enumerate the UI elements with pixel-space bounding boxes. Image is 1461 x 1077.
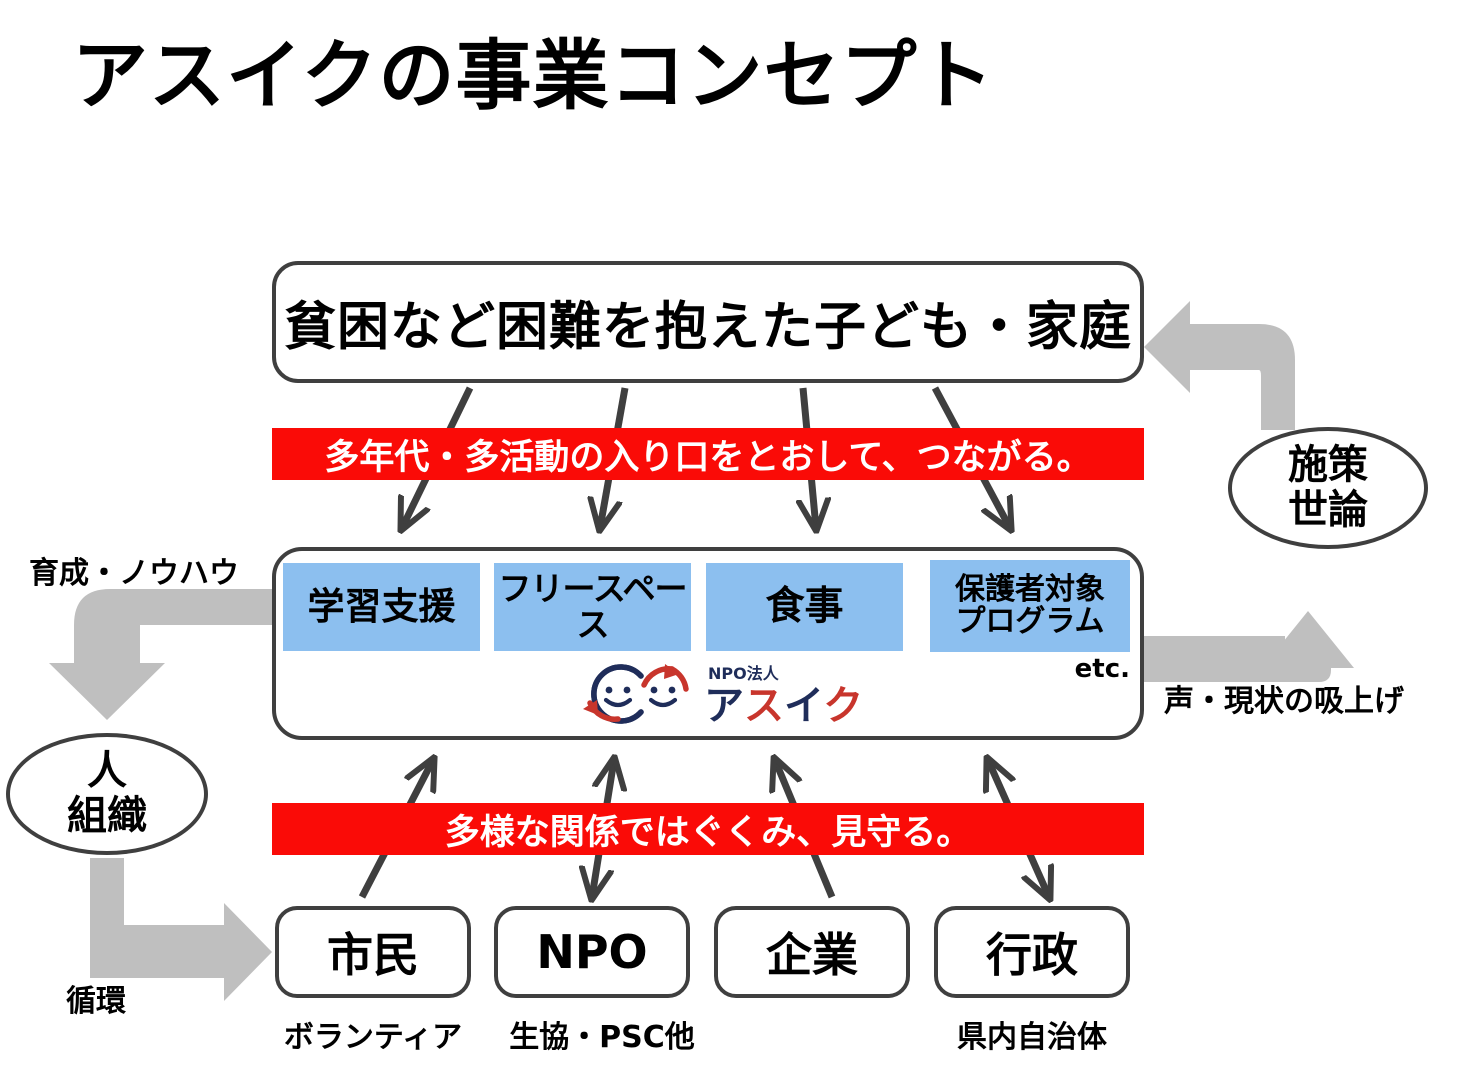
slide-canvas: アスイクの事業コンセプト 貧困など困難を抱えた子ども・家庭 (0, 0, 1461, 1077)
logo-name: アスイク (704, 683, 863, 727)
actor-box-kigyo[interactable]: 企業 (714, 906, 910, 998)
ellipse-left-line2: 組織 (67, 794, 147, 839)
etc-label: etc. (930, 654, 1130, 684)
actor-box-gyosei[interactable]: 行政 (934, 906, 1130, 998)
asuiku-logo: NPO法人 アスイク (578, 661, 898, 727)
label-ikusei-knowhow: 育成・ノウハウ (29, 548, 239, 592)
service-chip-hogosha-program[interactable]: 保護者対象プログラム (930, 560, 1130, 652)
ellipse-policy-opinion: 施策 世論 (1228, 427, 1428, 549)
actor-box-shimin[interactable]: 市民 (275, 906, 471, 998)
service-chip-gakushu-shien[interactable]: 学習支援 (283, 563, 480, 651)
actor-caption-shimin: ボランティア (253, 1012, 493, 1056)
target-population-box: 貧困など困難を抱えた子ども・家庭 (272, 261, 1144, 383)
actor-caption-gyosei: 県内自治体 (912, 1012, 1152, 1056)
logo-kicker: NPO法人 (708, 664, 780, 683)
arrow-seisaku-left (1144, 301, 1295, 430)
ellipse-people-organization: 人 組織 (6, 733, 208, 855)
logo-smiley-loop (583, 664, 686, 721)
arrow-ikusei-down (49, 589, 272, 720)
service-chip-shokuji[interactable]: 食事 (706, 563, 903, 651)
label-koe-genjo: 声・現状の吸上げ (1164, 676, 1404, 720)
page-title: アスイクの事業コンセプト (72, 36, 994, 116)
banner-connect: 多年代・多活動の入り口をとおして、つながる。 (272, 428, 1144, 480)
ellipse-left-line1: 人 (87, 749, 127, 794)
arrow-koe-up (1144, 611, 1354, 682)
label-junkan: 循環 (66, 976, 126, 1020)
banner-nurture: 多様な関係ではぐくみ、見守る。 (272, 803, 1144, 855)
target-population-label: 貧困など困難を抱えた子ども・家庭 (276, 285, 1140, 360)
ellipse-right-line2: 世論 (1288, 488, 1368, 533)
service-chip-free-space[interactable]: フリースペース (494, 563, 691, 651)
actor-caption-npo: 生協・PSC他 (482, 1012, 722, 1056)
actor-box-npo[interactable]: NPO (494, 906, 690, 998)
ellipse-right-line1: 施策 (1288, 443, 1368, 488)
